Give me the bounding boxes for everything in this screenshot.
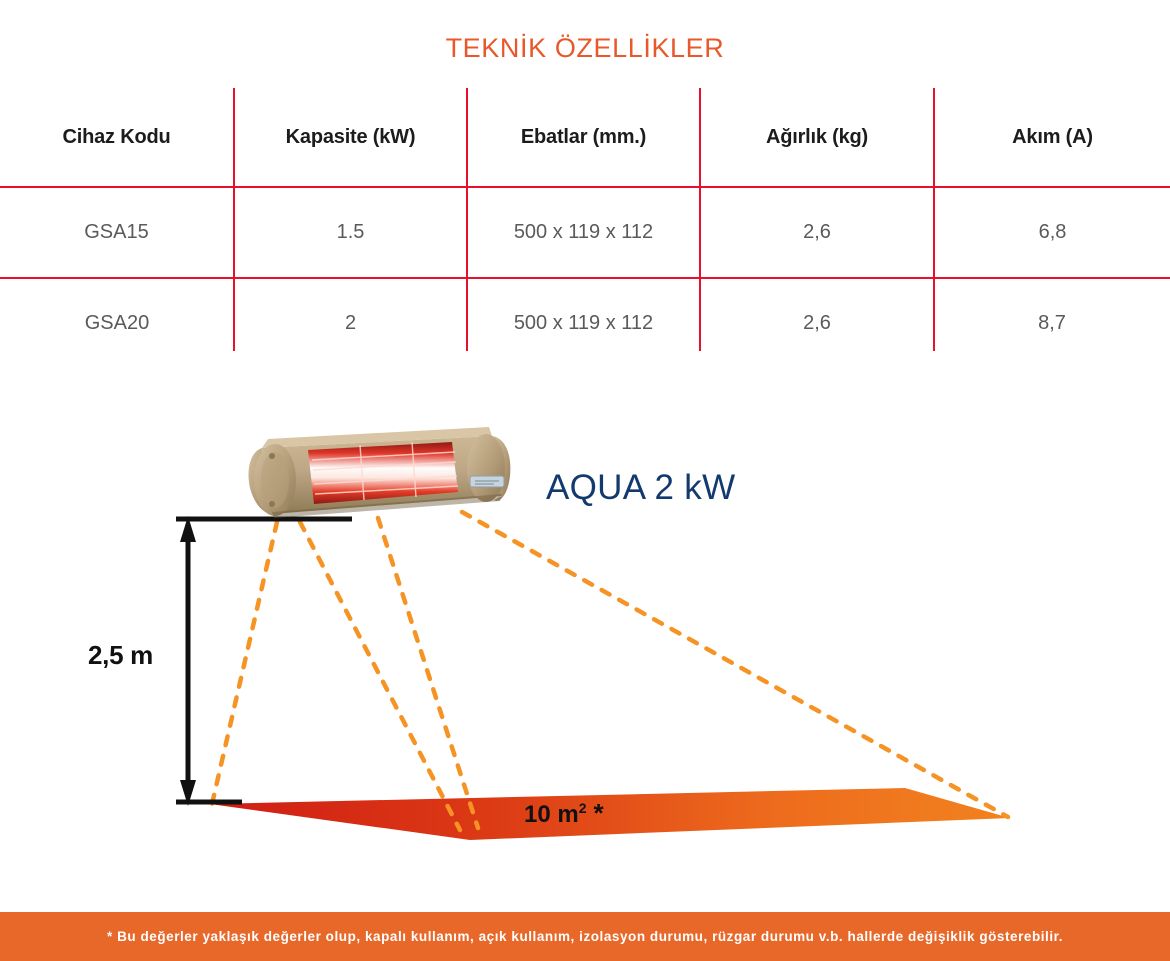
model-label: AQUA 2 kW — [546, 468, 735, 508]
cell-dimensions: 500 x 119 x 112 — [467, 278, 700, 368]
table-header-row: Cihaz Kodu Kapasite (kW) Ebatlar (mm.) A… — [0, 88, 1170, 187]
column-header-weight: Ağırlık (kg) — [700, 88, 934, 187]
cell-weight: 2,6 — [700, 278, 934, 368]
column-header-dimensions: Ebatlar (mm.) — [467, 88, 700, 187]
heat-ray-mid-right — [378, 518, 478, 828]
coverage-area-asterisk: * — [594, 798, 604, 828]
coverage-area-label: 10 m2* — [524, 798, 604, 829]
heater-mount-screw-top — [269, 453, 275, 459]
cell-weight: 2,6 — [700, 187, 934, 278]
heat-ray-right — [462, 512, 1008, 817]
heat-ray-left — [212, 522, 277, 804]
footer-note-banner: * Bu değerler yaklaşık değerler olup, ka… — [0, 912, 1170, 961]
heater-right-cap-face — [467, 434, 505, 502]
heater-mount-screw-bottom — [269, 501, 275, 507]
specifications-table: Cihaz Kodu Kapasite (kW) Ebatlar (mm.) A… — [0, 88, 1170, 368]
coverage-area-exponent: 2 — [579, 800, 587, 816]
heater-left-cap-inner — [261, 452, 289, 508]
heat-ray-mid-left — [300, 522, 460, 830]
heater-unit — [249, 427, 511, 518]
table-row: GSA20 2 500 x 119 x 112 2,6 8,7 — [0, 278, 1170, 368]
cell-capacity: 2 — [234, 278, 467, 368]
coverage-area-shape — [210, 788, 1010, 840]
cell-current: 6,8 — [934, 187, 1170, 278]
table-row: GSA15 1.5 500 x 119 x 112 2,6 6,8 — [0, 187, 1170, 278]
coverage-area-value: 10 m — [524, 801, 579, 828]
cell-device-code: GSA20 — [0, 278, 234, 368]
column-header-capacity: Kapasite (kW) — [234, 88, 467, 187]
column-header-current: Akım (A) — [934, 88, 1170, 187]
cell-device-code: GSA15 — [0, 187, 234, 278]
heat-ray-group — [212, 512, 1008, 830]
column-header-device-code: Cihaz Kodu — [0, 88, 234, 187]
footer-note-text: * Bu değerler yaklaşık değerler olup, ka… — [107, 929, 1063, 944]
cell-dimensions: 500 x 119 x 112 — [467, 187, 700, 278]
mounting-height-label: 2,5 m — [88, 640, 153, 671]
page-title: TEKNİK ÖZELLİKLER — [0, 33, 1170, 64]
cell-current: 8,7 — [934, 278, 1170, 368]
cell-capacity: 1.5 — [234, 187, 467, 278]
